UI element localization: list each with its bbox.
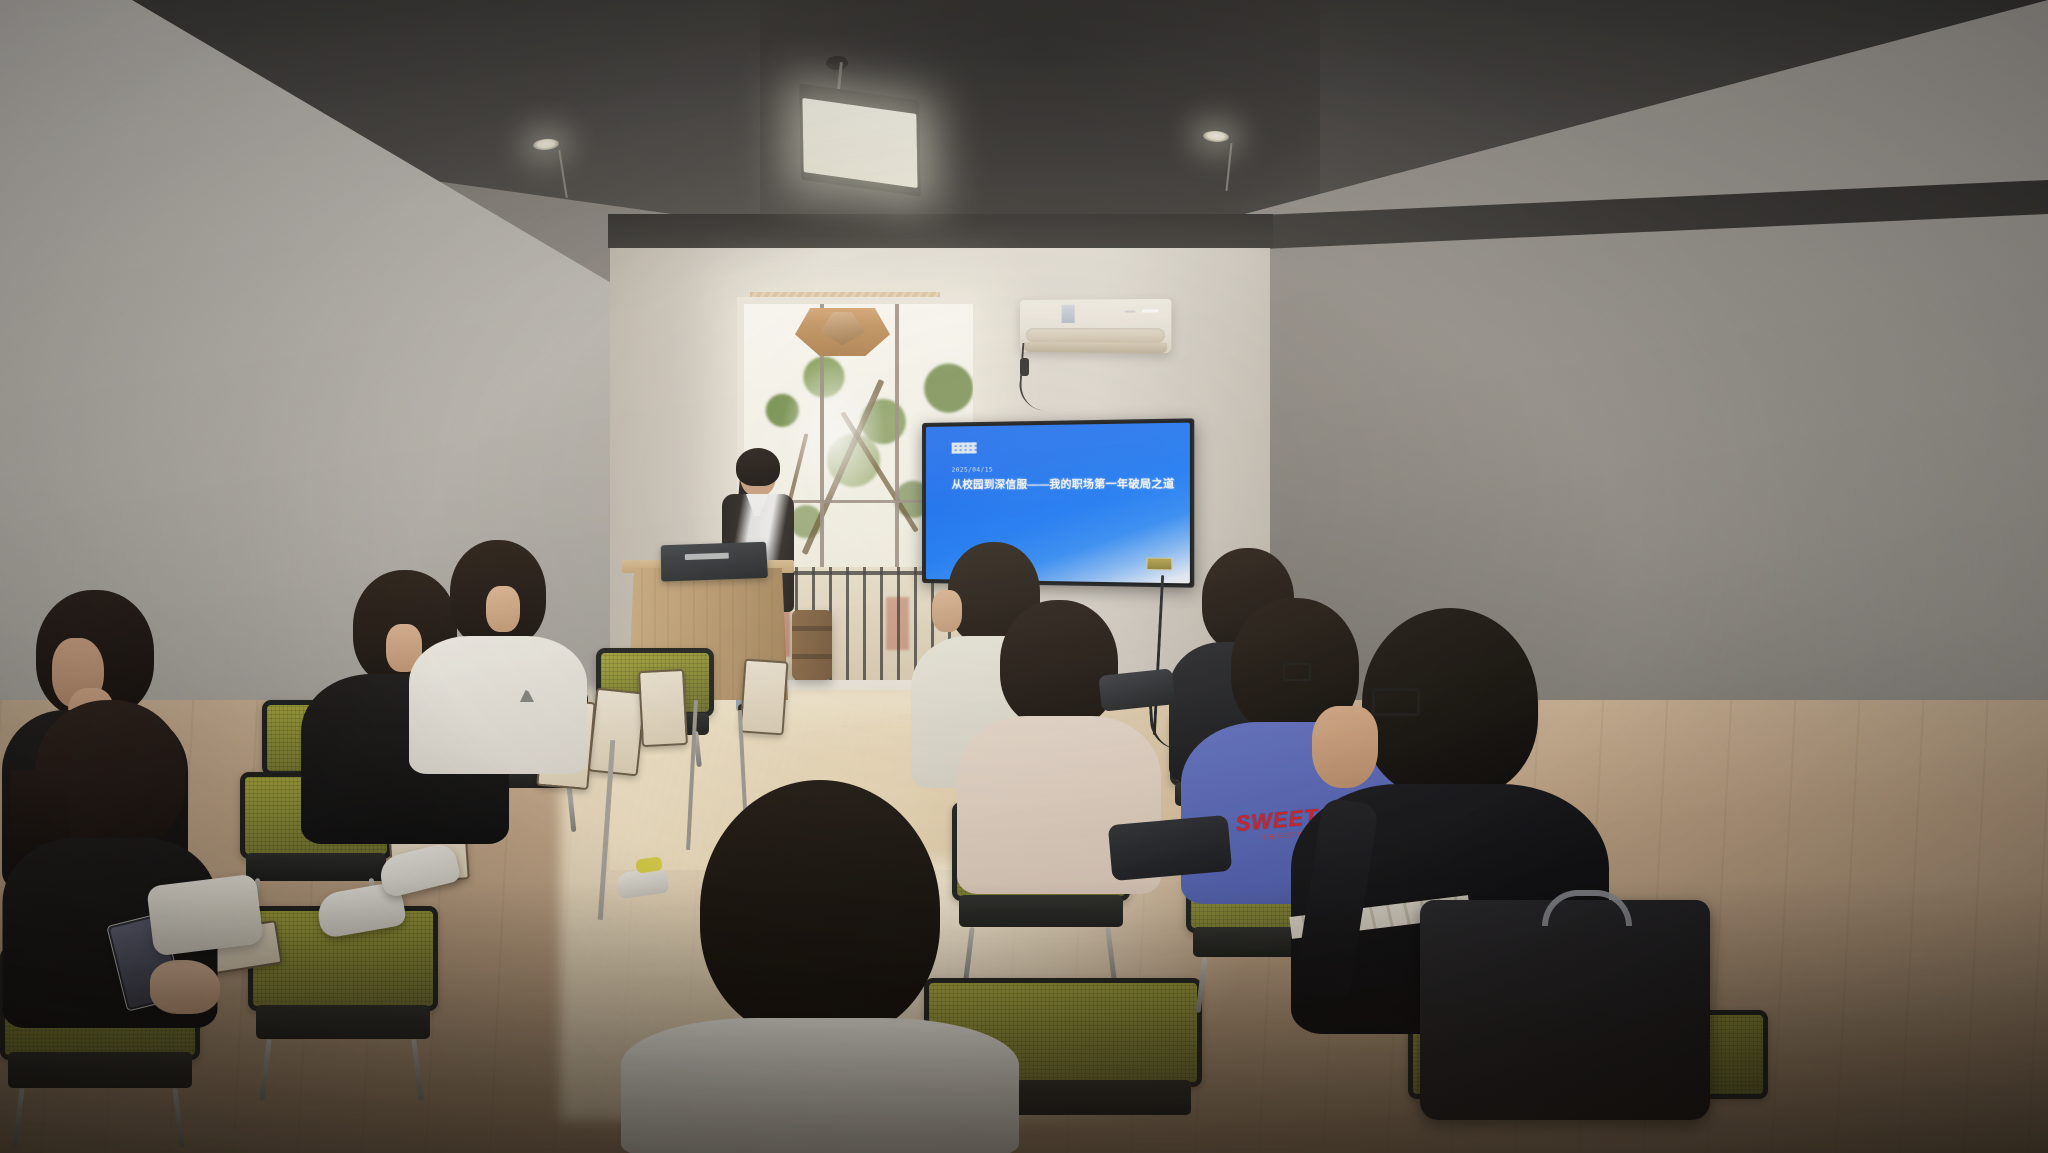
presenter-hair [736, 448, 780, 486]
tablet-arm-2[interactable] [638, 669, 688, 747]
glasses-right-dark-icon [1372, 688, 1420, 716]
tablet-arm-3[interactable] [739, 659, 788, 736]
led-panel-light-icon [800, 92, 920, 188]
tablet-arm-1[interactable] [588, 688, 647, 777]
floor-vignette [0, 880, 2048, 1153]
laptop [661, 542, 768, 582]
pendant-lamp-icon [795, 308, 890, 356]
slide-title: 从校园到深信服——我的职场第一年破局之道 [952, 478, 1175, 492]
conference-room-photo: 2025/04/15 从校园到深信服——我的职场第一年破局之道 [0, 0, 2048, 1153]
camera-bag [1108, 815, 1232, 881]
slide-date: 2025/04/15 [952, 466, 993, 473]
company-logo-mark-icon [952, 442, 977, 453]
air-conditioner-remote-holder [1020, 358, 1029, 376]
attendee-left-white [408, 540, 588, 770]
back-ceiling-beam [608, 214, 1273, 248]
light-mount [826, 56, 848, 70]
wooden-stool [792, 610, 832, 680]
bag-on-chair [1098, 668, 1175, 712]
